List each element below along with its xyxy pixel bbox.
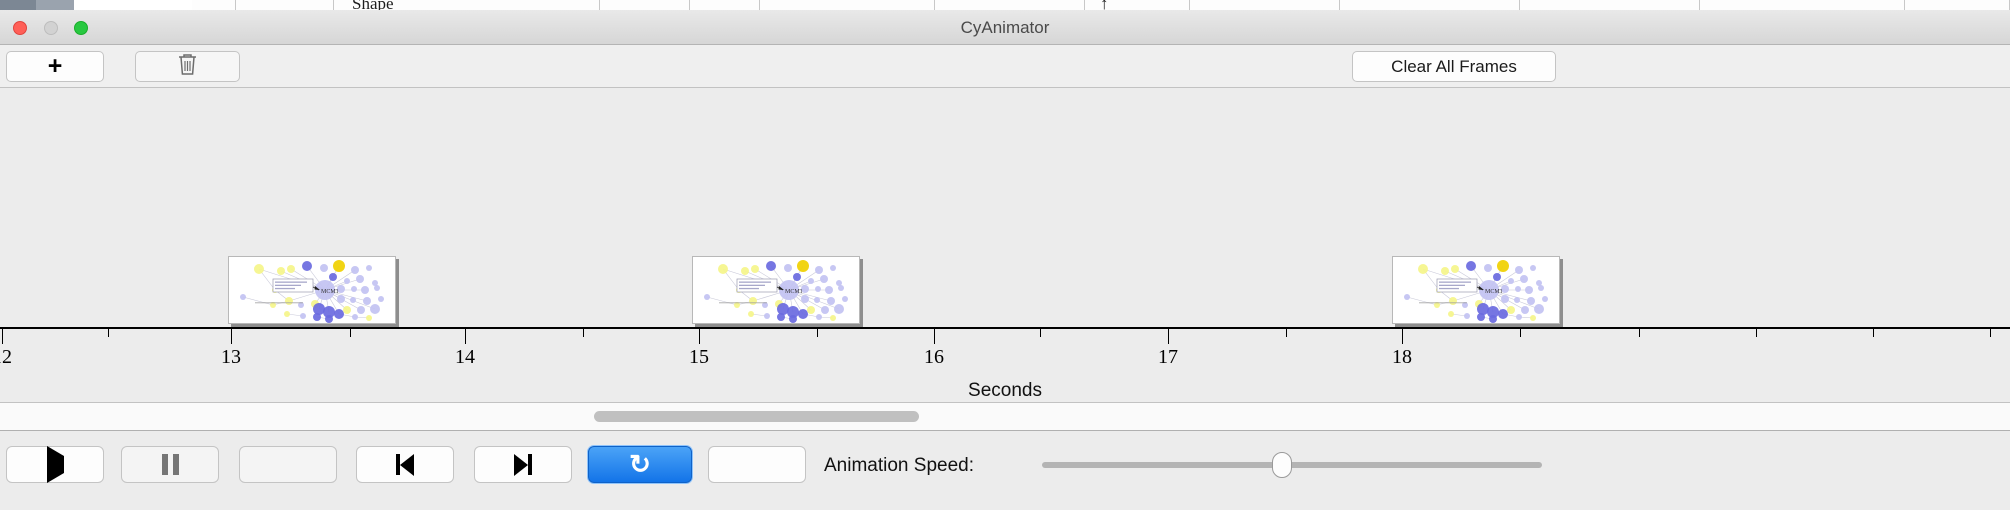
ruler-tick-label: 18 bbox=[1392, 346, 1412, 369]
playback-bar: Animation Speed: ↻ bbox=[0, 431, 2010, 510]
frame-thumbnail[interactable]: MCM1 bbox=[228, 256, 396, 324]
ruler-tick-minor bbox=[817, 329, 818, 337]
background-label: Shape bbox=[352, 0, 394, 10]
pause-button[interactable] bbox=[121, 446, 219, 483]
ruler-tick-major bbox=[934, 329, 935, 344]
stop-button[interactable] bbox=[239, 446, 337, 483]
animation-speed-label: Animation Speed: bbox=[824, 455, 974, 477]
ruler-tick-minor bbox=[1286, 329, 1287, 337]
ruler-tick-major bbox=[2, 329, 3, 344]
loop-icon: ↻ bbox=[629, 451, 651, 478]
ruler-tick-minor bbox=[108, 329, 109, 337]
timeline-scrollbar-thumb[interactable] bbox=[594, 411, 919, 422]
add-frame-button[interactable]: + bbox=[6, 51, 104, 82]
loop-button[interactable]: ↻ bbox=[588, 446, 692, 483]
title-bar: CyAnimator bbox=[0, 10, 2010, 45]
timeline-axis-title: Seconds bbox=[0, 380, 2010, 402]
ruler-tick-minor bbox=[1040, 329, 1041, 337]
pause-icon bbox=[162, 454, 179, 475]
plus-icon: + bbox=[48, 54, 63, 79]
background-panel-block bbox=[600, 0, 690, 10]
frame-thumbnail[interactable]: MCM1 bbox=[1392, 256, 1560, 324]
trash-icon bbox=[177, 52, 198, 81]
background-dark-block bbox=[0, 0, 36, 10]
ruler-tick-minor bbox=[1520, 329, 1521, 337]
ruler-tick-minor bbox=[1639, 329, 1640, 337]
skip-start-button[interactable] bbox=[356, 446, 454, 483]
background-panel-block bbox=[1700, 0, 1905, 10]
ruler-tick-minor bbox=[350, 329, 351, 337]
timeline-ruler-line bbox=[0, 327, 2010, 329]
ruler-tick-minor bbox=[1756, 329, 1757, 337]
toolbar: + Clear All Frames bbox=[0, 45, 2010, 88]
ruler-tick-major bbox=[1402, 329, 1403, 344]
ruler-tick-major bbox=[699, 329, 700, 344]
background-panel-block bbox=[1905, 0, 2010, 10]
timeline-scrollbar[interactable] bbox=[0, 403, 2010, 431]
background-panel-block bbox=[760, 0, 935, 10]
svg-text:MCM1: MCM1 bbox=[321, 289, 339, 295]
record-button[interactable] bbox=[708, 446, 806, 483]
svg-text:MCM1: MCM1 bbox=[785, 289, 803, 295]
skip-end-button[interactable] bbox=[474, 446, 572, 483]
background-panel-block bbox=[935, 0, 1085, 10]
ruler-tick-major bbox=[1168, 329, 1169, 344]
delete-frame-button[interactable] bbox=[135, 51, 240, 82]
skip-forward-icon bbox=[514, 454, 532, 476]
ruler-tick-minor bbox=[1873, 329, 1874, 337]
ruler-tick-label: 12 bbox=[0, 346, 12, 369]
background-app-strip: Shape↑ bbox=[0, 0, 2010, 10]
ruler-tick-minor bbox=[1990, 329, 1991, 337]
cyanimator-window: Shape↑ CyAnimator + Clear All Frames Sec… bbox=[0, 0, 2010, 510]
play-button[interactable] bbox=[6, 446, 104, 483]
ruler-tick-label: 16 bbox=[924, 346, 944, 369]
animation-speed-slider-thumb[interactable] bbox=[1272, 452, 1292, 478]
ruler-tick-major bbox=[465, 329, 466, 344]
background-panel-block bbox=[236, 0, 334, 10]
ruler-tick-major bbox=[231, 329, 232, 344]
timeline-panel[interactable]: Seconds 12131415161718MCM1MCM1MCM1 bbox=[0, 88, 2010, 403]
background-dark-block-2 bbox=[36, 0, 74, 10]
background-panel-block bbox=[690, 0, 760, 10]
ruler-tick-minor bbox=[583, 329, 584, 337]
skip-back-icon bbox=[396, 454, 414, 476]
frame-thumbnail[interactable]: MCM1 bbox=[692, 256, 860, 324]
clear-all-frames-button[interactable]: Clear All Frames bbox=[1352, 51, 1556, 82]
background-panel-block bbox=[1340, 0, 1520, 10]
background-label: ↑ bbox=[1100, 0, 1109, 10]
window-title: CyAnimator bbox=[0, 10, 2010, 45]
background-panel-block bbox=[1520, 0, 1700, 10]
animation-speed-slider[interactable] bbox=[1042, 462, 1542, 468]
ruler-tick-label: 15 bbox=[689, 346, 709, 369]
play-icon bbox=[47, 456, 64, 474]
background-panel-block bbox=[1190, 0, 1340, 10]
background-panel-block bbox=[192, 0, 236, 10]
ruler-tick-label: 13 bbox=[221, 346, 241, 369]
svg-text:MCM1: MCM1 bbox=[1485, 289, 1503, 295]
ruler-tick-label: 17 bbox=[1158, 346, 1178, 369]
ruler-tick-label: 14 bbox=[455, 346, 475, 369]
